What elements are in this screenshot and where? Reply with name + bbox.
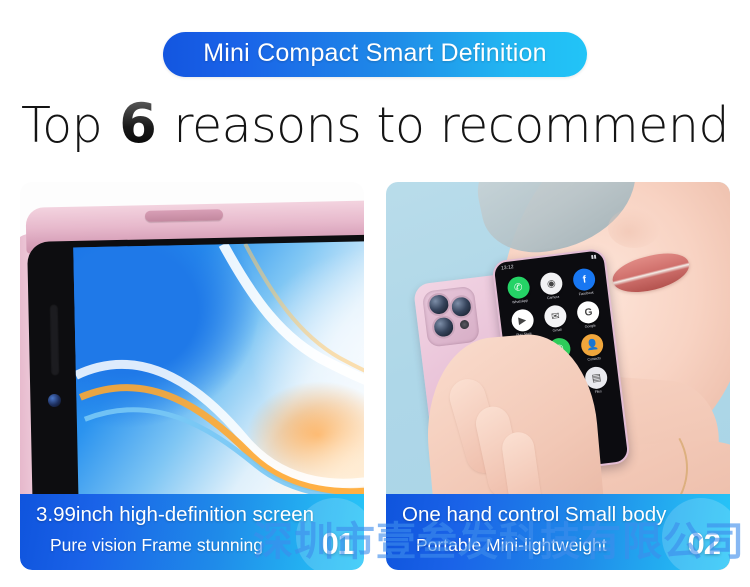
camera-flash-icon <box>459 320 469 330</box>
status-icons: ▮▮ <box>591 254 597 261</box>
caption-subtext: Pure vision Frame stunning <box>50 535 263 556</box>
app-label: Contacts <box>587 356 601 362</box>
panel-caption-onehand: One hand control Small body Portable Min… <box>386 494 730 570</box>
app-label: Camera <box>547 295 560 300</box>
model-nose <box>608 208 660 248</box>
app-label: Facebook <box>578 291 593 297</box>
caption-subtext: Portable Mini-lightweight <box>416 535 607 556</box>
phone-power-button <box>145 209 223 222</box>
phone-earpiece-icon <box>49 304 60 376</box>
wallpaper-ribbons <box>73 241 364 516</box>
headline-number: 6 <box>117 92 158 155</box>
camera-island <box>422 286 480 348</box>
google-icon: G <box>576 300 601 325</box>
phone-screen-wallpaper <box>73 241 364 516</box>
headline-suffix: reasons to recommend <box>173 97 729 154</box>
gmail-icon: ✉ <box>543 304 568 329</box>
app-label: Files <box>594 389 602 394</box>
panel-caption-screen: 3.99inch high-definition screen Pure vis… <box>20 494 364 570</box>
header-banner: Mini Compact Smart Definition <box>0 32 750 77</box>
app-label: Gmail <box>552 328 561 333</box>
camera-lens-icon <box>431 314 457 340</box>
app-label: WhatsApp <box>512 299 528 305</box>
feature-panels: 3.99inch high-definition screen Pure vis… <box>20 182 730 570</box>
headline-prefix: Top <box>21 97 102 154</box>
app-icon-google[interactable]: GGoogle <box>573 300 605 330</box>
app-label: Google <box>584 324 595 329</box>
feature-panel-onehand[interactable]: 13:12 ▮▮ ✆WhatsApp◉CamerafFacebook▶Play … <box>386 182 730 570</box>
camera-lens-icon <box>449 294 475 320</box>
caption-headline: 3.99inch high-definition screen <box>36 503 314 527</box>
app-icon-facebook[interactable]: fFacebook <box>569 267 601 297</box>
facebook-icon: f <box>572 267 597 292</box>
caption-number: 01 <box>322 526 354 562</box>
camera-icon: ◉ <box>539 271 564 296</box>
camera-lens-icon <box>426 292 452 318</box>
app-icon-whatsapp[interactable]: ✆WhatsApp <box>502 275 534 305</box>
app-icon-gmail[interactable]: ✉Gmail <box>539 304 571 334</box>
caption-headline: One hand control Small body <box>402 503 666 527</box>
contacts-icon: 👤 <box>580 333 605 358</box>
whatsapp-icon: ✆ <box>506 275 531 300</box>
header-badge: Mini Compact Smart Definition <box>163 32 586 77</box>
page-title: Top 6 reasons to recommend <box>0 92 750 155</box>
app-icon-play-store[interactable]: ▶Play Store <box>506 308 538 338</box>
app-icon-contacts[interactable]: 👤Contacts <box>577 332 609 362</box>
app-icon-camera[interactable]: ◉Camera <box>535 271 567 301</box>
caption-number: 02 <box>688 526 720 562</box>
status-time: 13:12 <box>501 264 514 271</box>
play-store-icon: ▶ <box>510 308 535 333</box>
feature-panel-screen[interactable]: 3.99inch high-definition screen Pure vis… <box>20 182 364 570</box>
